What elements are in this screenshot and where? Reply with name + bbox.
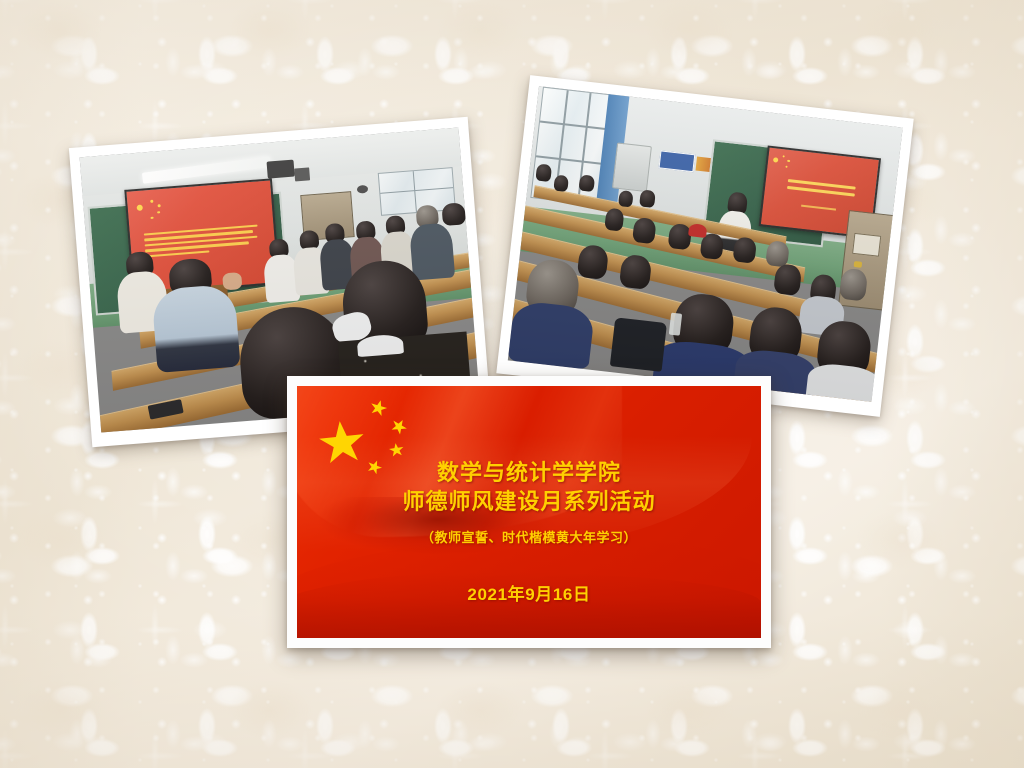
photo-card-lecture-hall[interactable] — [496, 75, 913, 417]
title-slide: 数学与统计学学院 师德师风建设月系列活动 （教师宣誓、时代楷模黄大年学习） 20… — [297, 386, 761, 638]
slide-title-line2: 师德师风建设月系列活动 — [402, 487, 655, 516]
slide-title: 数学与统计学学院 师德师风建设月系列活动 — [402, 458, 655, 517]
slide-subtitle: （教师宣誓、时代楷模黄大年学习） — [421, 527, 637, 546]
photo-image-lecture-hall — [508, 86, 903, 402]
slide-text-block: 数学与统计学学院 师德师风建设月系列活动 （教师宣誓、时代楷模黄大年学习） 20… — [297, 386, 761, 638]
scene-lecture-hall — [508, 86, 903, 402]
slide-title-line1: 数学与统计学学院 — [437, 460, 621, 485]
title-card[interactable]: 数学与统计学学院 师德师风建设月系列活动 （教师宣誓、时代楷模黄大年学习） 20… — [287, 376, 771, 648]
collage-stage: 数学与统计学学院 师德师风建设月系列活动 （教师宣誓、时代楷模黄大年学习） 20… — [0, 0, 1024, 768]
hall-tone-overlay — [508, 86, 903, 402]
slide-date: 2021年9月16日 — [467, 580, 590, 605]
